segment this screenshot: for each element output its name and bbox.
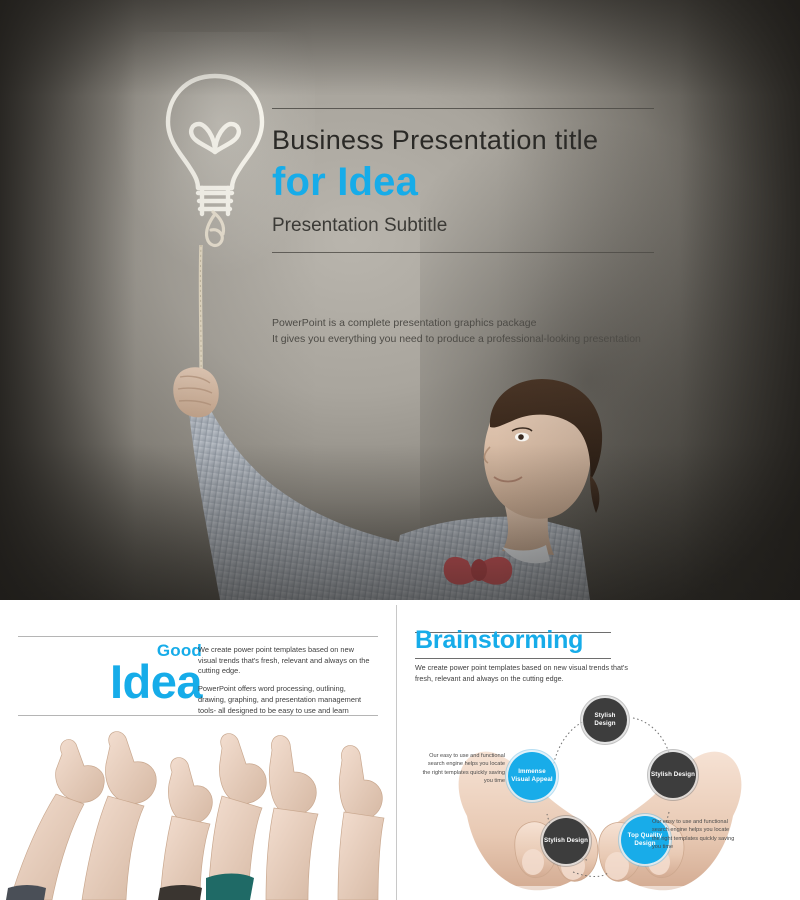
person-photo <box>150 355 620 600</box>
node-stylish-design-bottom-left[interactable]: Stylish Design <box>543 818 589 864</box>
node-immense-visual-appeal[interactable]: Immense Visual Appeal <box>508 752 556 800</box>
hero-rule-bottom <box>272 252 654 253</box>
good-idea-slide: Good Idea We create power point template… <box>0 600 396 900</box>
hero-rule-top <box>272 108 654 109</box>
brainstorming-diagram: Stylish Design Stylish Design Immense Vi… <box>397 690 800 900</box>
node-label: Stylish Design <box>651 771 695 779</box>
good-idea-paragraph-2: PowerPoint offers word processing, outli… <box>198 684 370 716</box>
bowtie-icon <box>444 557 513 585</box>
good-idea-heading: Good Idea <box>12 642 202 703</box>
good-idea-copy: We create power point templates based on… <box>198 645 370 716</box>
node-stylish-design-right[interactable]: Stylish Design <box>650 752 696 798</box>
lightbulb-graphic <box>155 62 275 292</box>
good-idea-paragraph-1: We create power point templates based on… <box>198 645 370 677</box>
hero-subtitle: Presentation Subtitle <box>272 215 672 237</box>
hero-slide: Business Presentation title for Idea Pre… <box>0 0 800 600</box>
hero-body-line-2: It gives you everything you need to prod… <box>272 331 672 347</box>
brainstorming-subtitle: We create power point templates based on… <box>415 663 640 685</box>
idea-headline: Idea <box>12 660 202 703</box>
node-label: Stylish Design <box>544 837 588 845</box>
hero-accent-title: for Idea <box>272 160 672 205</box>
presentation-template-preview: Business Presentation title for Idea Pre… <box>0 0 800 900</box>
left-rule-top <box>18 636 378 637</box>
brainstorming-title: Brainstorming <box>415 626 583 655</box>
hero-body-text: PowerPoint is a complete presentation gr… <box>272 315 672 348</box>
hero-body-line-1: PowerPoint is a complete presentation gr… <box>272 315 672 331</box>
thumbs-up-photo <box>0 720 396 900</box>
node-stylish-design-top[interactable]: Stylish Design <box>583 698 627 742</box>
lightbulb-icon <box>155 62 275 292</box>
hero-title: Business Presentation title <box>272 125 672 156</box>
node-label: Stylish Design <box>583 712 627 729</box>
brainstorming-slide: Brainstorming We create power point temp… <box>397 600 800 900</box>
right-rule-bottom <box>415 658 611 659</box>
annotation-right: Our easy to use and functional search en… <box>652 818 738 852</box>
annotation-left: Our easy to use and functional search en… <box>419 752 505 786</box>
node-label: Immense Visual Appeal <box>508 768 556 785</box>
hero-text-block: Business Presentation title for Idea Pre… <box>272 108 672 253</box>
